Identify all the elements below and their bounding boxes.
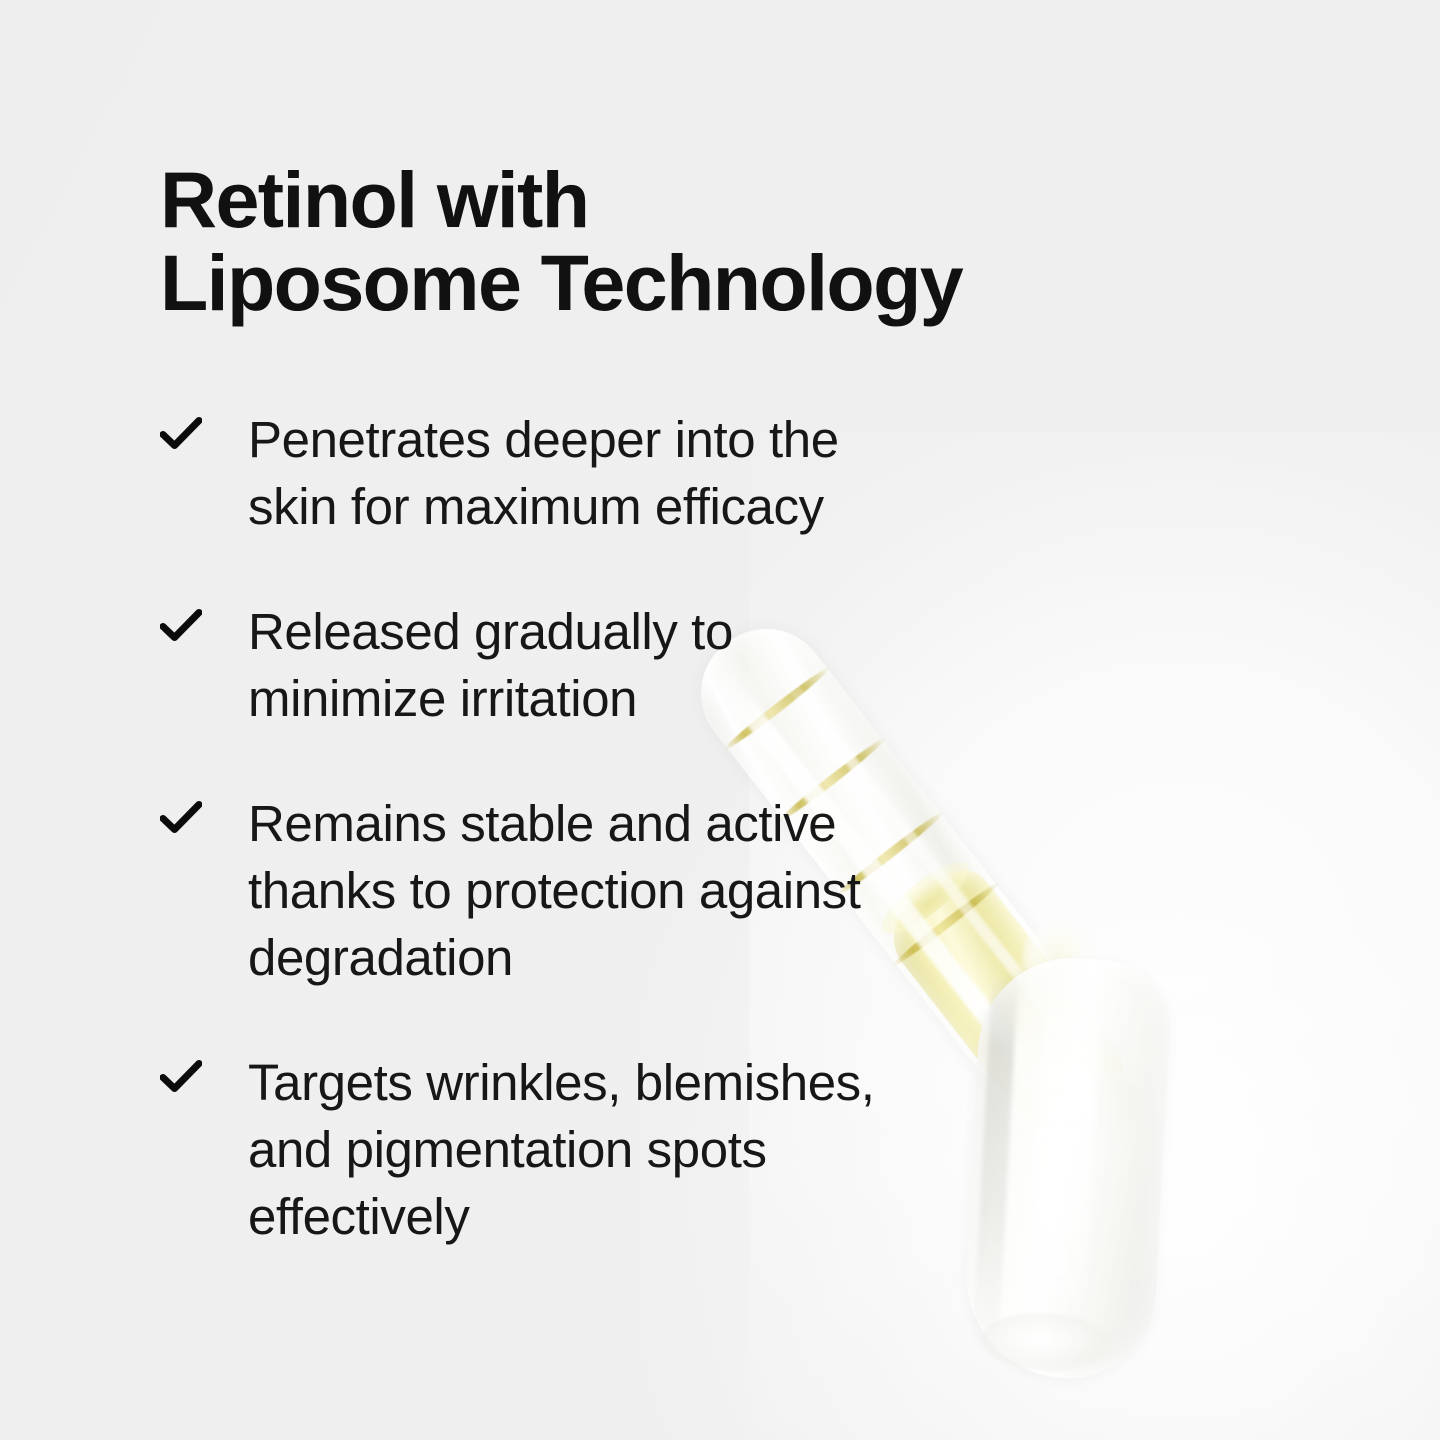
list-item: Remains stable and active thanks to prot…	[160, 790, 1060, 991]
list-item: Released gradually to minimize irritatio…	[160, 598, 1060, 732]
list-item-label: Targets wrinkles, blemishes, and pigment…	[248, 1049, 1060, 1250]
list-item-label: Remains stable and active thanks to prot…	[248, 790, 1060, 991]
check-icon	[160, 608, 216, 642]
product-benefit-card: Retinol with Liposome Technology Penetra…	[0, 0, 1440, 1440]
check-icon	[160, 416, 216, 450]
benefits-list: Penetrates deeper into the skin for maxi…	[160, 406, 1060, 1250]
list-item-label: Released gradually to minimize irritatio…	[248, 598, 1060, 732]
list-item: Penetrates deeper into the skin for maxi…	[160, 406, 1060, 540]
list-item: Targets wrinkles, blemishes, and pigment…	[160, 1049, 1060, 1250]
check-icon	[160, 1059, 216, 1093]
list-item-label: Penetrates deeper into the skin for maxi…	[248, 406, 1060, 540]
text-column: Retinol with Liposome Technology Penetra…	[160, 158, 1120, 324]
check-icon	[160, 800, 216, 834]
page-title: Retinol with Liposome Technology	[160, 158, 1120, 324]
